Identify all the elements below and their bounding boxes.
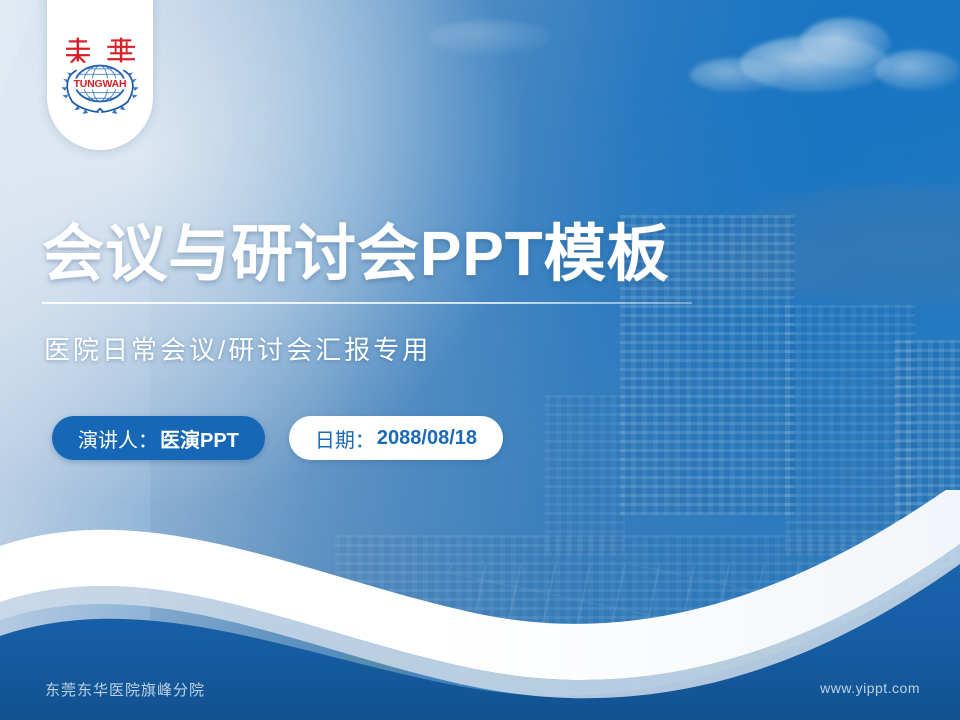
footer-organization: 东莞东华医院旗峰分院 [45,679,205,700]
title-underline-rule [42,302,692,304]
speaker-value: 医演PPT [160,424,239,453]
tungwah-hospital-logo: TUNGWAH [54,32,146,124]
speaker-label: 演讲人： [78,424,158,453]
presentation-title-slide: TUNGWAH 会议与研讨会PPT模板 医院日常会议/研讨会汇报专用 [0,0,960,720]
logo-badge: TUNGWAH [47,0,153,150]
page-subtitle: 医院日常会议/研讨会汇报专用 [44,330,431,367]
date-value: 2088/08/18 [377,427,477,450]
date-label: 日期： [315,424,375,453]
meta-badge-row: 演讲人：医演PPT 日期：2088/08/18 [52,416,503,460]
speaker-badge[interactable]: 演讲人：医演PPT [52,416,265,460]
page-title: 会议与研讨会PPT模板 [42,222,670,289]
footer-website[interactable]: www.yippt.com [820,680,920,696]
date-badge[interactable]: 日期：2088/08/18 [289,416,503,460]
svg-text:TUNGWAH: TUNGWAH [74,79,127,90]
